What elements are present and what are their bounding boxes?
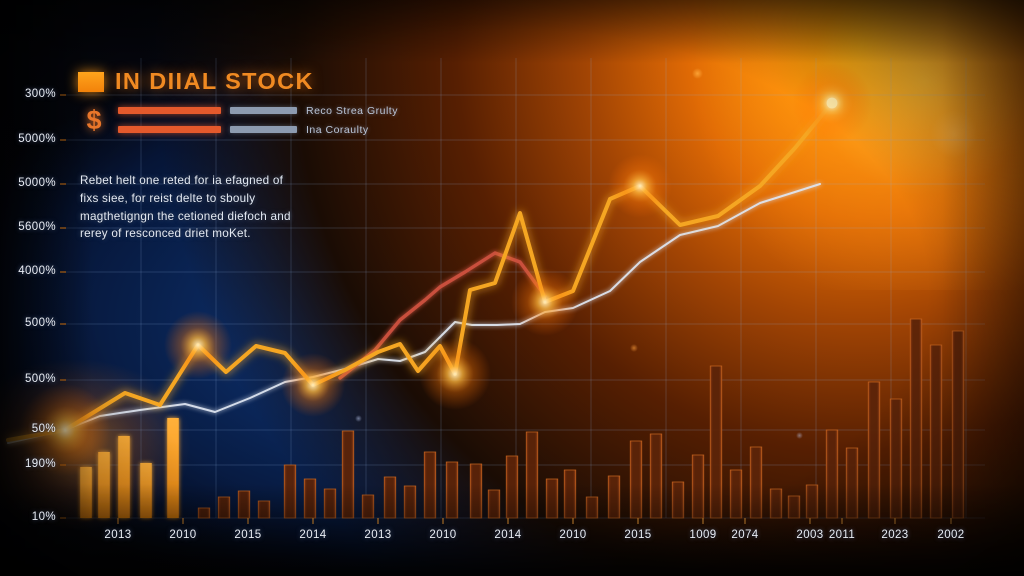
chart-bar	[564, 470, 576, 518]
legend-item-label: Reco Strea Grulty	[306, 105, 398, 117]
y-axis-tick-label: 500%	[25, 317, 56, 329]
legend-item[interactable]: Ina Coraulty	[118, 124, 398, 136]
y-axis-tick-label: 300%	[25, 88, 56, 100]
legend-bar-swatch	[118, 126, 221, 133]
glow-node	[281, 353, 345, 417]
x-axis-tick-label: 2013	[348, 529, 408, 541]
y-axis-tick-label: 4000%	[18, 265, 56, 277]
glow-node	[608, 154, 672, 218]
chart-bar	[650, 434, 662, 518]
chart-bar	[806, 485, 818, 518]
y-axis-tick-label: 5000%	[18, 177, 56, 189]
endpoint-dot	[827, 98, 838, 109]
chart-bar	[770, 489, 782, 518]
chart-bar	[342, 431, 354, 518]
chart-bar	[750, 447, 762, 518]
chart-bar	[446, 462, 458, 518]
glow-node	[419, 338, 491, 410]
chart-bar	[470, 464, 482, 518]
chart-bar	[930, 345, 942, 518]
x-axis-tick-label: 2074	[715, 529, 775, 541]
glow-node	[511, 268, 579, 336]
chart-bar	[826, 430, 838, 518]
legend-item-label: Ina Coraulty	[306, 124, 369, 136]
chart-bar	[630, 441, 642, 518]
y-axis-tick-label: 5600%	[18, 221, 56, 233]
chart-bar	[846, 448, 858, 518]
legend-tick-swatch	[230, 107, 297, 114]
x-axis-tick-label: 2011	[812, 529, 872, 541]
chart-screenshot: 300%5000%5000%5600%4000%500%500%50%190%1…	[0, 0, 1024, 576]
chart-title-row: IN DIIAL STOCK	[78, 68, 314, 95]
legend-bar-swatch	[118, 107, 221, 114]
chart-bar	[710, 366, 722, 518]
chart-bar	[362, 495, 374, 518]
chart-bar	[526, 432, 538, 518]
x-axis-tick-label: 2015	[218, 529, 278, 541]
x-axis-tick-label: 2023	[865, 529, 925, 541]
chart-bar	[586, 497, 598, 518]
page-title: IN DIIAL STOCK	[115, 68, 314, 95]
chart-bar	[80, 467, 92, 518]
chart-bar	[238, 491, 250, 518]
chart-bar	[546, 479, 558, 518]
chart-bar	[304, 479, 316, 518]
chart-bar	[118, 436, 130, 518]
chart-bar	[284, 465, 296, 518]
x-axis-tick-label: 2014	[283, 529, 343, 541]
x-axis-tick-label: 2015	[608, 529, 668, 541]
chart-bar	[198, 508, 210, 518]
chart-bar	[692, 455, 704, 518]
description-paragraph: Rebet helt one reted for ia efagned of f…	[80, 172, 302, 243]
chart-bar	[506, 456, 518, 518]
chart-bar	[488, 490, 500, 518]
chart-bar	[404, 486, 416, 518]
y-axis-tick-label: 190%	[25, 458, 56, 470]
y-axis-tick-label: 50%	[32, 423, 56, 435]
chart-bar	[672, 482, 684, 518]
y-axis-tick-label: 5000%	[18, 133, 56, 145]
x-axis-tick-label: 2010	[153, 529, 213, 541]
chart-bar	[218, 497, 230, 518]
chart-bar	[608, 476, 620, 518]
chart-bar	[952, 331, 964, 518]
chart-legend: $ Reco Strea Grulty Ina Coraulty	[80, 103, 398, 137]
dollar-sign-icon: $	[80, 103, 108, 137]
y-axis-tick-label: 10%	[32, 511, 56, 523]
chart-bar	[424, 452, 436, 518]
chart-bar	[868, 382, 880, 518]
chart-bar	[890, 399, 902, 518]
chart-bar	[258, 501, 270, 518]
chart-bar	[140, 463, 152, 518]
x-axis-tick-label: 2014	[478, 529, 538, 541]
legend-tick-swatch	[230, 126, 297, 133]
glow-node	[164, 311, 232, 379]
x-axis-tick-label: 2010	[413, 529, 473, 541]
chart-bar	[788, 496, 800, 518]
x-axis-tick-label: 2002	[921, 529, 981, 541]
x-axis-tick-label: 2013	[88, 529, 148, 541]
chart-bar	[324, 489, 336, 518]
legend-item[interactable]: Reco Strea Grulty	[118, 105, 398, 117]
chart-bar	[167, 418, 179, 518]
chart-bar	[730, 470, 742, 518]
x-axis-tick-label: 2010	[543, 529, 603, 541]
chart-bar	[98, 452, 110, 518]
chart-bar	[910, 319, 922, 518]
series-endpoint-marker	[827, 98, 838, 109]
title-color-swatch	[78, 72, 104, 92]
y-axis-tick-label: 500%	[25, 373, 56, 385]
chart-bar	[384, 477, 396, 518]
